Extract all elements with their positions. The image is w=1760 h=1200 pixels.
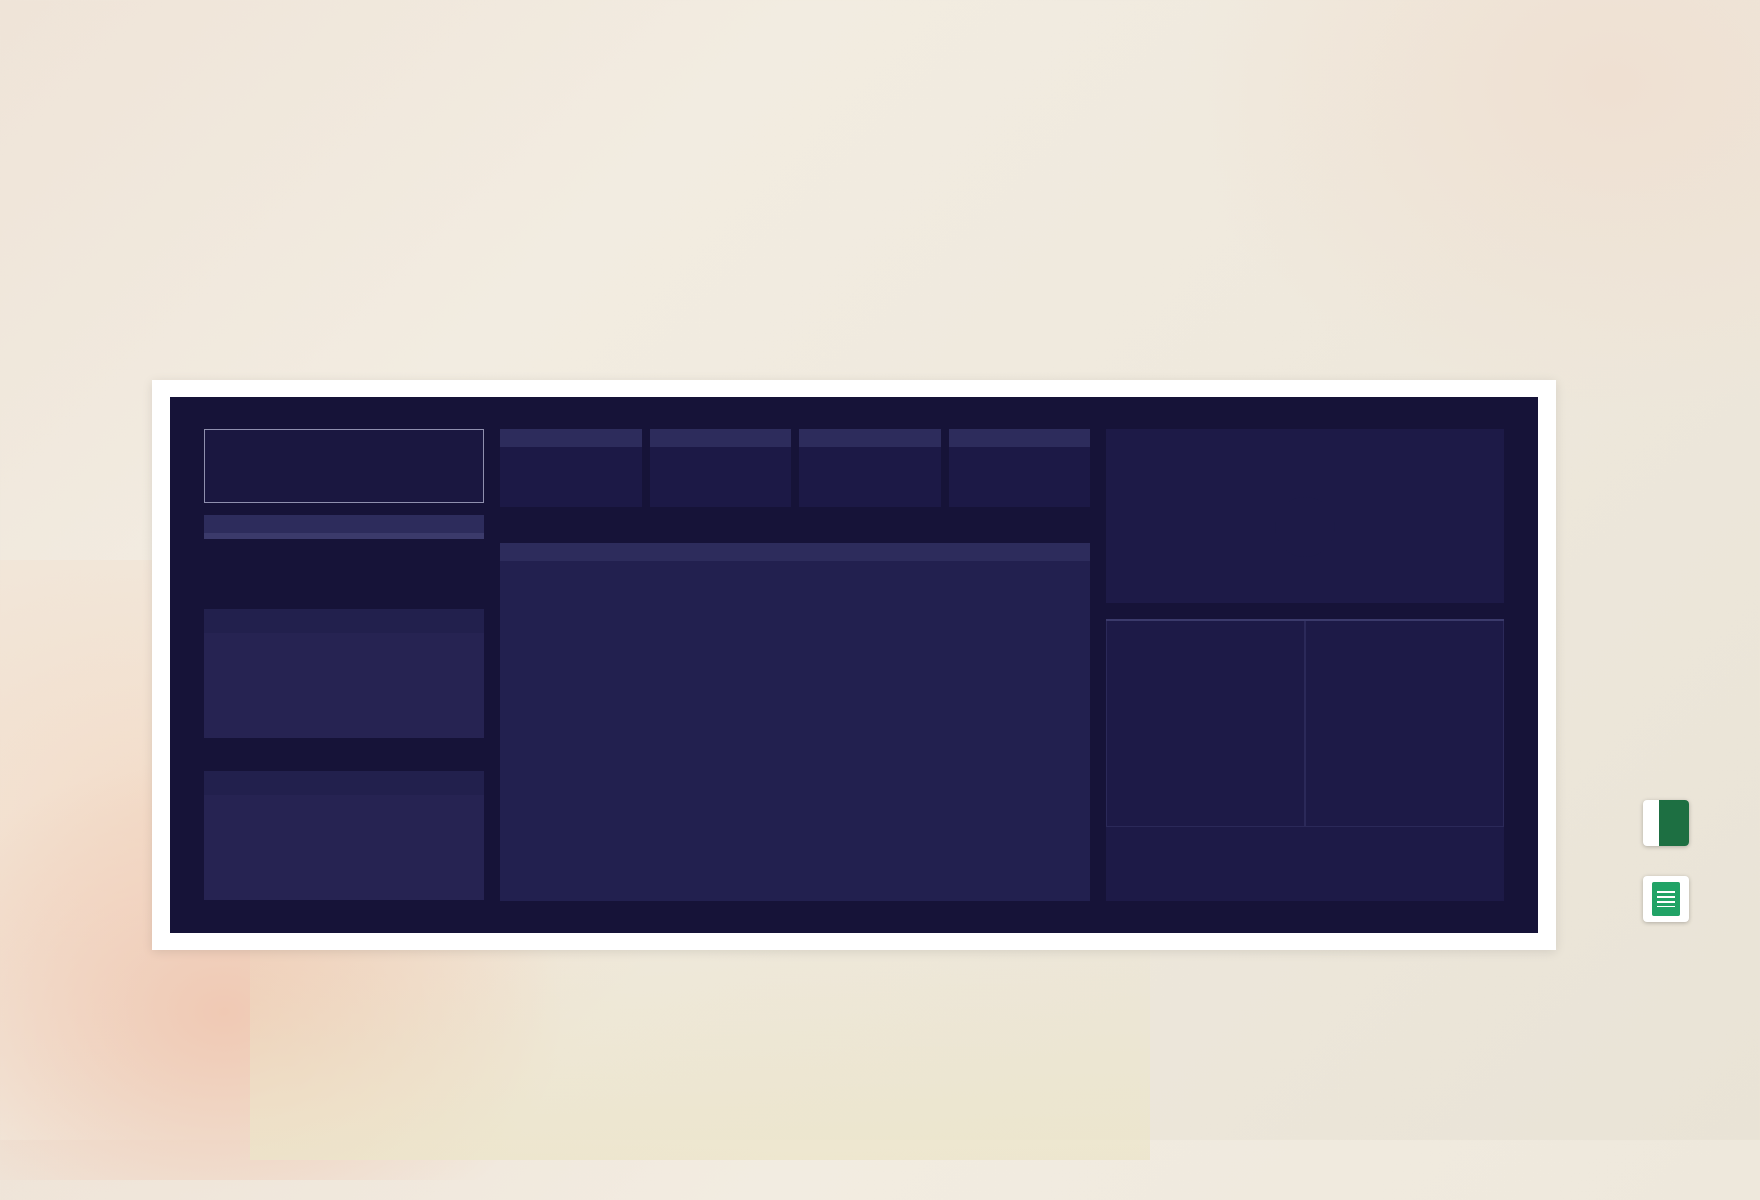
efficiency-level-value-box [204, 633, 484, 738]
bar-series [566, 587, 1074, 861]
quarterly-value-cell [414, 536, 484, 538]
roi-card [204, 771, 484, 900]
dashboard-board [170, 397, 1538, 933]
quarterly-value-cell [205, 536, 275, 538]
donut-chart [1235, 457, 1375, 597]
quarterly-value-cell [275, 536, 345, 538]
quarterly-caption [204, 515, 484, 533]
monthly-earned-chart-panel [1106, 429, 1504, 603]
efficiency-level-label [204, 609, 484, 633]
lowest-value [1305, 621, 1504, 827]
monthly-revenue-chart-title [500, 543, 1090, 561]
kpi-card-label [650, 429, 792, 447]
highest-lowest-values [1106, 621, 1504, 827]
quarterly-header-cell [274, 533, 344, 535]
dashboard-sheet [152, 380, 1556, 950]
quarterly-header-cell [414, 533, 484, 535]
kpi-card-incentive-paid [799, 429, 941, 507]
donut-hole [1275, 497, 1335, 557]
dashboard-heading-box [204, 429, 484, 503]
monthly-revenue-plot [500, 561, 1090, 901]
excel-icon[interactable] [1643, 800, 1689, 846]
kpi-card-variance [650, 429, 792, 507]
kpi-card-label [949, 429, 1091, 447]
quarterly-header-cell [204, 533, 274, 535]
quarterly-header-cell [344, 533, 414, 535]
kpi-card-label [799, 429, 941, 447]
page-header [0, 58, 1760, 86]
quarterly-revenue-table [204, 515, 484, 539]
kpi-card-average [500, 429, 642, 507]
kpi-card-total-earned [949, 429, 1091, 507]
quarterly-value-cell [344, 536, 414, 538]
highest-value [1106, 621, 1305, 827]
monthly-earned-chart-title [1106, 429, 1504, 437]
kpi-cards [500, 429, 1090, 507]
monthly-revenue-chart-panel [500, 543, 1090, 901]
efficiency-level-card [204, 609, 484, 738]
google-sheets-icon[interactable] [1643, 876, 1689, 922]
highest-lowest-panel [1106, 619, 1504, 901]
roi-value-box [204, 795, 484, 900]
roi-label [204, 771, 484, 795]
kpi-card-label [500, 429, 642, 447]
quarterly-header-row [204, 533, 484, 535]
quarterly-value-row [204, 535, 484, 539]
